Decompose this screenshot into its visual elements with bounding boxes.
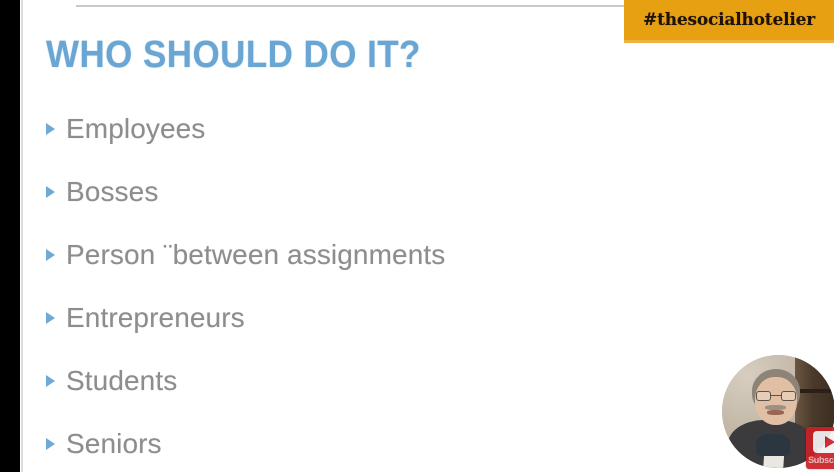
- triangle-right-icon: [46, 175, 66, 209]
- page-title: WHO SHOULD DO IT?: [46, 34, 421, 76]
- list-item: Entrepreneurs: [46, 301, 806, 364]
- slide-left-edge-rule: [21, 0, 23, 472]
- video-player-viewport: #thesocialhotelier WHO SHOULD DO IT? Emp…: [0, 0, 834, 472]
- hashtag-banner: #thesocialhotelier: [624, 0, 834, 43]
- list-item-label: Students: [66, 364, 177, 398]
- triangle-right-icon: [46, 364, 66, 398]
- list-item-label: Entrepreneurs: [66, 301, 245, 335]
- triangle-right-icon: [46, 427, 66, 461]
- list-item: Seniors: [46, 427, 806, 472]
- list-item-label: Bosses: [66, 175, 158, 209]
- hashtag-banner-text: #thesocialhotelier: [643, 10, 815, 30]
- triangle-right-icon: [46, 301, 66, 335]
- presenter-scarf: [756, 434, 790, 456]
- youtube-play-icon: [813, 431, 834, 453]
- glasses-icon: [756, 391, 796, 401]
- subscribe-button-label: Subscribe: [808, 455, 834, 465]
- presenter-face: [755, 377, 797, 425]
- list-item: Employees: [46, 112, 806, 175]
- list-item: Students: [46, 364, 806, 427]
- bullet-list: Employees Bosses Person ¨between assignm…: [46, 112, 806, 472]
- list-item-label: Seniors: [66, 427, 162, 461]
- list-item-label: Employees: [66, 112, 205, 146]
- list-item: Bosses: [46, 175, 806, 238]
- list-item: Person ¨between assignments: [46, 238, 806, 301]
- letterbox-bar-left: [0, 0, 20, 472]
- triangle-right-icon: [46, 238, 66, 272]
- list-item-label: Person ¨between assignments: [66, 238, 445, 272]
- subscribe-button[interactable]: Subscribe: [806, 427, 834, 469]
- triangle-right-icon: [46, 112, 66, 146]
- presenter-mouth: [767, 410, 784, 415]
- presentation-slide: #thesocialhotelier WHO SHOULD DO IT? Emp…: [20, 0, 834, 472]
